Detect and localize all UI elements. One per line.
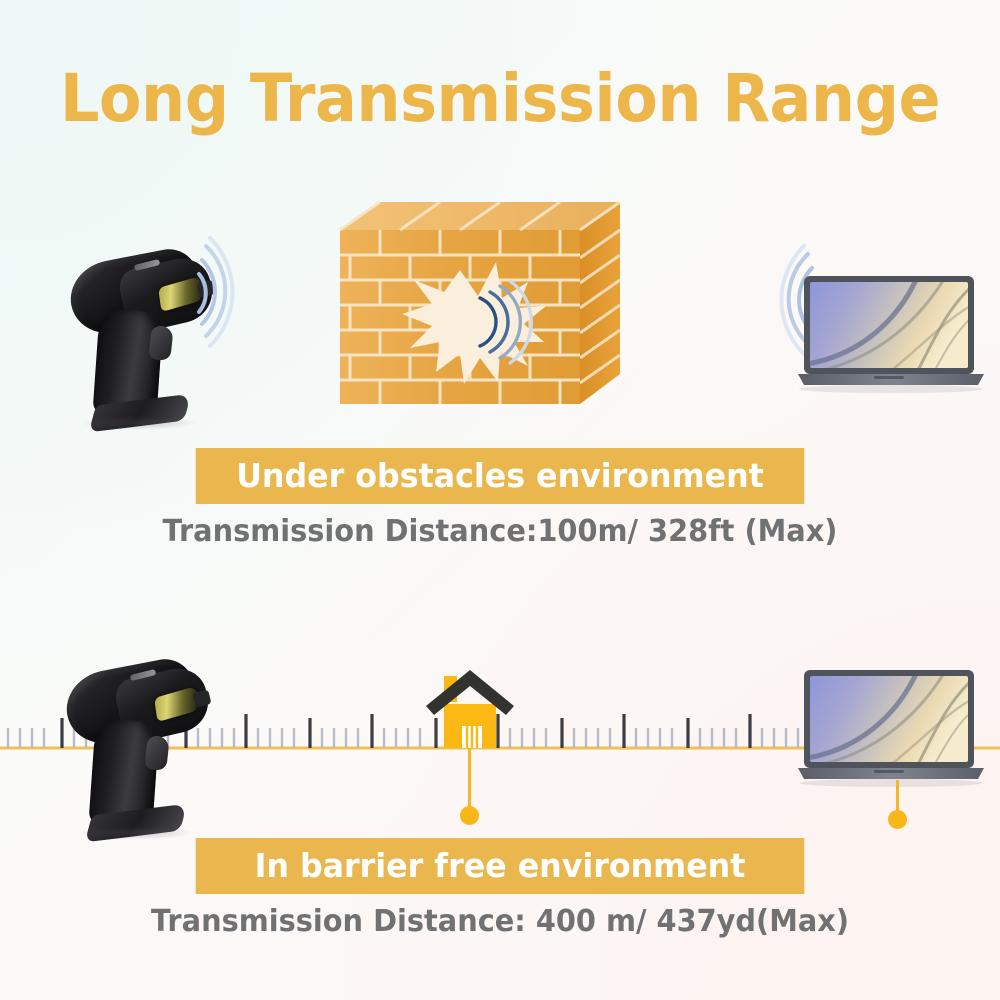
measurement-marker-dot: [888, 810, 907, 829]
scanner-shadow: [80, 416, 198, 430]
subtitle-under-obstacles: Transmission Distance:100m/ 328ft (Max): [20, 512, 980, 552]
scanner-trigger: [144, 735, 169, 771]
page-title: Long Transmission Range: [30, 62, 970, 136]
barcode-scanner-icon: [58, 648, 248, 838]
measurement-marker-dot: [460, 806, 479, 825]
infographic-canvas: Long Transmission Range: [0, 0, 1000, 1000]
laptop-icon: [796, 664, 986, 789]
banner-barrier-free: In barrier free environment: [196, 838, 805, 894]
scanner-shadow: [76, 826, 194, 840]
measurement-marker-line: [896, 780, 899, 814]
subtitle-barrier-free: Transmission Distance: 400 m/ 437yd(Max): [20, 902, 980, 942]
scanner-nose: [192, 689, 211, 707]
scanner-trigger: [148, 325, 173, 361]
brick-wall-icon: [332, 196, 632, 411]
laptop-icon: [796, 270, 986, 395]
house-icon: [422, 666, 518, 761]
measurement-marker-line: [468, 748, 471, 810]
banner-under-obstacles: Under obstacles environment: [196, 448, 805, 504]
wifi-signal-arcs-icon: [196, 228, 306, 358]
